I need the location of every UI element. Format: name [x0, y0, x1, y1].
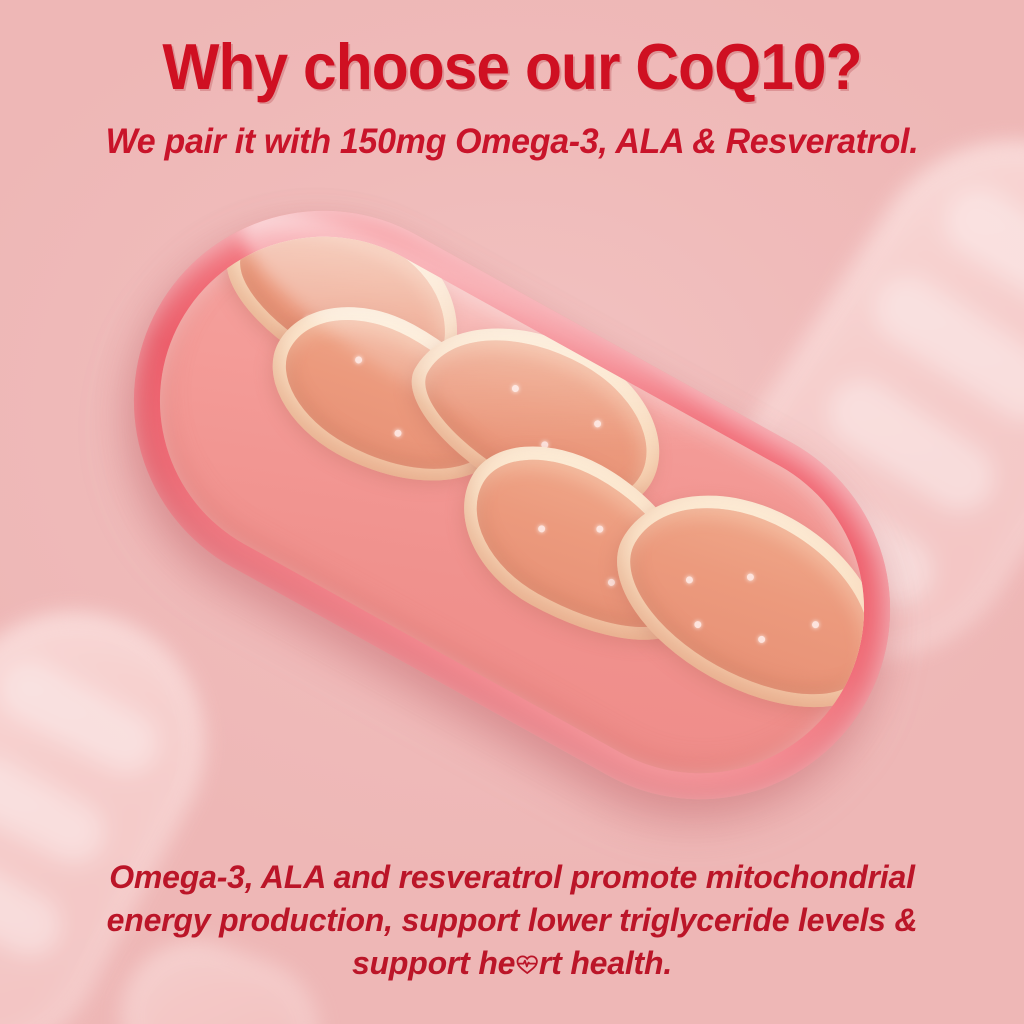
product-infographic-poster: Why choose our CoQ10? We pair it with 15… — [0, 0, 1024, 1024]
heart-pulse-icon — [516, 944, 538, 966]
granule-dot — [361, 326, 371, 336]
granule-dot — [540, 440, 550, 450]
benefit-description: Omega-3, ALA and resveratrol promote mit… — [60, 856, 964, 985]
benefit-line-2: energy production, support lower triglyc… — [60, 899, 964, 942]
mitochondrion-cutaway — [66, 142, 959, 867]
crista-lobe — [585, 451, 923, 746]
benefit-line-1: Omega-3, ALA and resveratrol promote mit… — [60, 856, 964, 899]
benefit-line-3: support hert health. — [60, 942, 964, 985]
blob-fold — [932, 175, 1024, 333]
page-title: Why choose our CoQ10? — [36, 33, 988, 101]
benefit-line-3-after: rt health. — [539, 945, 672, 981]
granule-dot — [593, 419, 603, 429]
benefit-line-3-before: support he — [352, 945, 515, 981]
blob-fold — [0, 650, 169, 785]
subtitle: We pair it with 150mg Omega-3, ALA & Res… — [15, 122, 1008, 162]
blob-fold — [861, 263, 1024, 434]
granule-dot — [511, 384, 521, 394]
blob-fold — [0, 746, 116, 873]
